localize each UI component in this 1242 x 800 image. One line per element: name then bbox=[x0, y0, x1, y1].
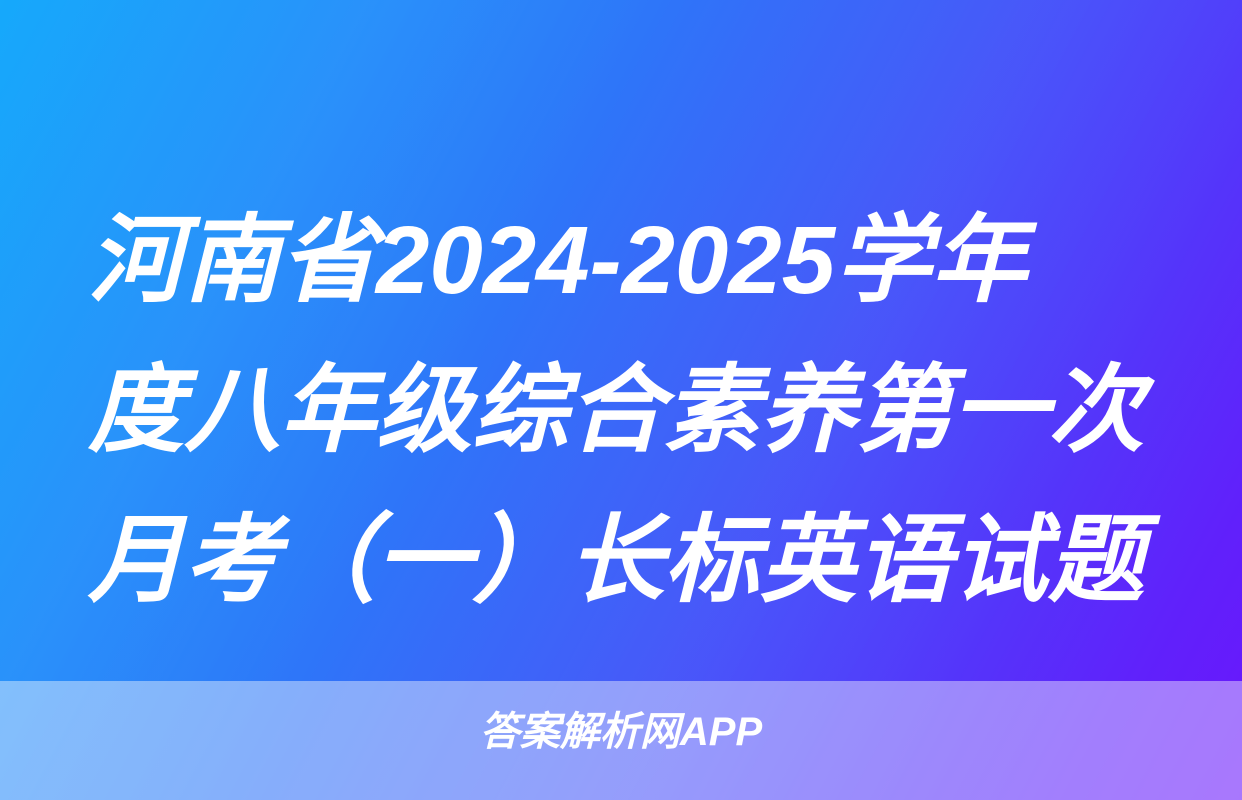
title-line-2: 度八年级综合素养第一次 bbox=[88, 336, 1178, 486]
title-line-3: 月考（一）长标英语试题 bbox=[88, 486, 1178, 636]
title-card: 河南省2024-2025学年 度八年级综合素养第一次 月考（一）长标英语试题 答… bbox=[0, 0, 1242, 800]
title-line-1: 河南省2024-2025学年 bbox=[88, 186, 1178, 336]
page-title: 河南省2024-2025学年 度八年级综合素养第一次 月考（一）长标英语试题 bbox=[88, 186, 1178, 636]
watermark-brand-label: 答案解析网APP bbox=[0, 708, 1242, 756]
